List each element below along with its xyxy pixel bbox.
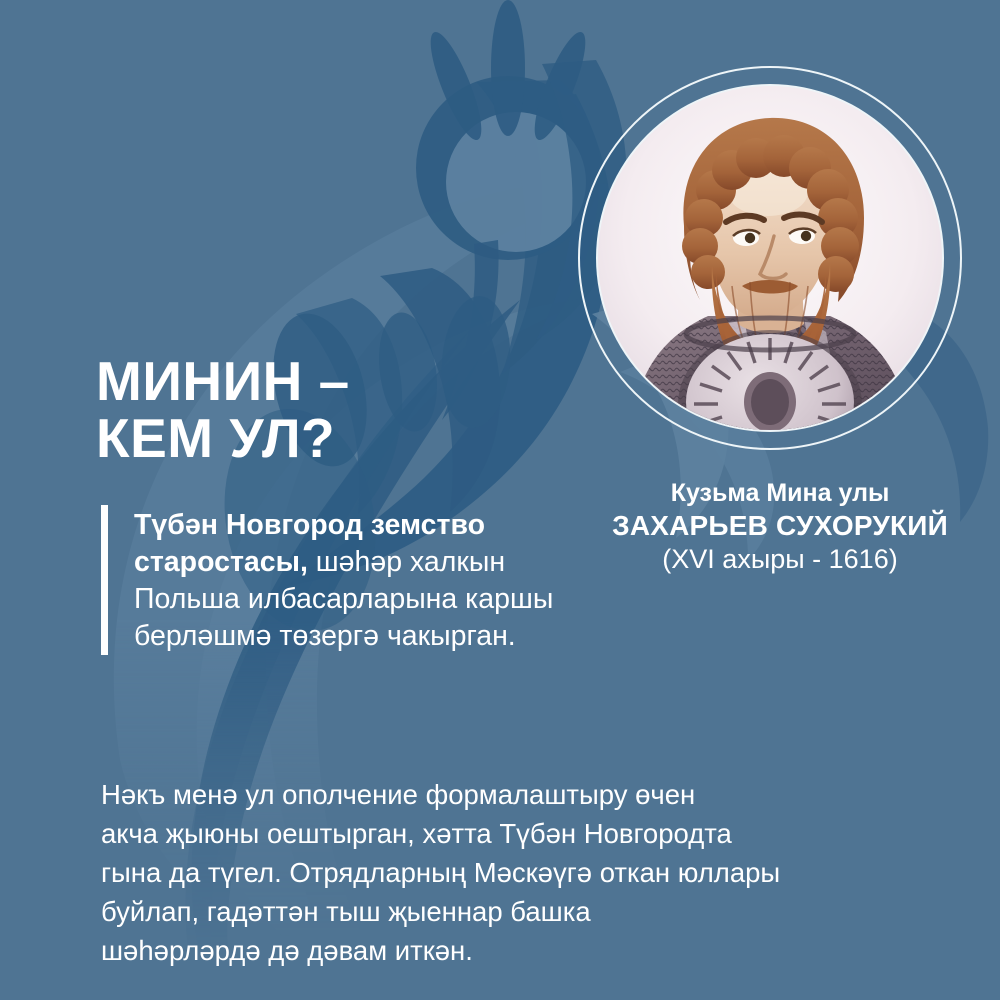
caption-line-2: ЗАХАРЬЕВ СУХОРУКИЙ <box>560 509 1000 543</box>
body-paragraph: Нәкъ менә ул ополчение формалаштыру өчен… <box>101 775 901 970</box>
portrait-image <box>598 86 942 430</box>
infographic-card: МИНИН – КЕМ УЛ? Түбән Новгород земство с… <box>0 0 1000 1000</box>
quote-block: Түбән Новгород земство старостасы, шәһәр… <box>101 505 581 655</box>
caption-line-3: (XVI ахыры - 1616) <box>560 543 1000 576</box>
portrait-caption: Кузьма Мина улы ЗАХАРЬЕВ СУХОРУКИЙ (XVI … <box>560 478 1000 576</box>
accent-bar <box>101 505 108 655</box>
caption-line-1: Кузьма Мина улы <box>560 478 1000 509</box>
portrait-medallion <box>578 66 962 450</box>
page-title: МИНИН – КЕМ УЛ? <box>96 353 616 467</box>
quote-text: Түбән Новгород земство старостасы, шәһәр… <box>134 505 581 655</box>
